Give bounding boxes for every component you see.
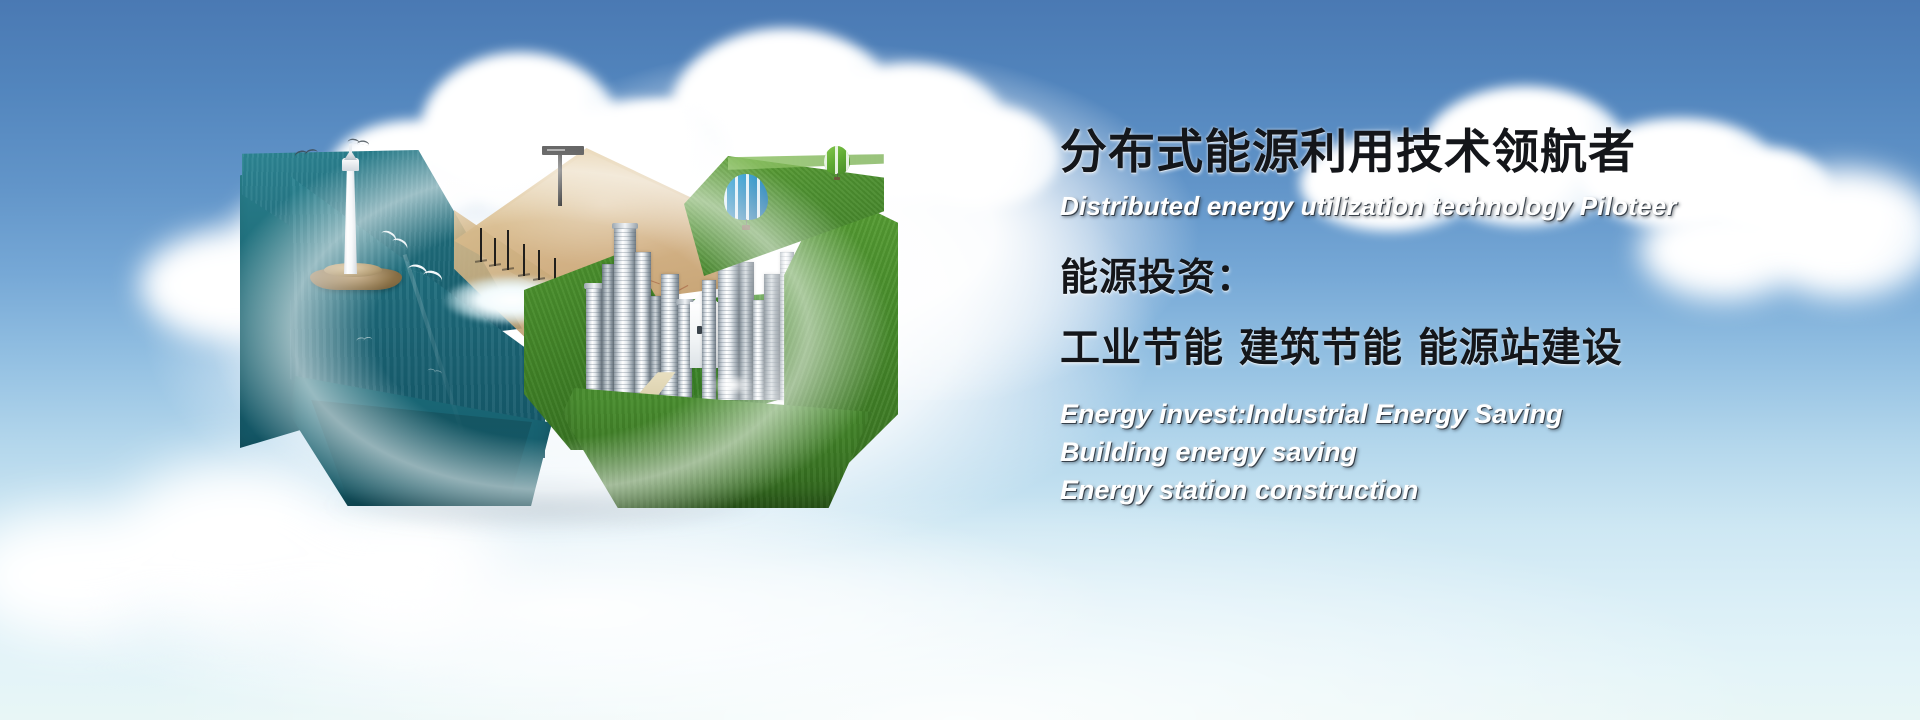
- services-list-english: Energy invest:Industrial Energy Saving B…: [1060, 395, 1820, 510]
- skyscraper: [586, 288, 602, 400]
- services-list-chinese: 工业节能 建筑节能 能源站建设: [1060, 315, 1820, 373]
- energy-invest-label: 能源投资：: [1060, 246, 1820, 301]
- balloon-basket: [834, 177, 839, 180]
- signpost-pole: [558, 150, 562, 206]
- dead-tree-icon: [538, 250, 540, 280]
- city-light-glow: [702, 370, 762, 400]
- dead-tree-icon: [494, 238, 496, 266]
- balloon-basket: [742, 225, 751, 230]
- hero-banner: 分布式能源利用技术领航者 Distributed energy utilizat…: [0, 0, 1920, 720]
- balloon-envelope: [824, 146, 850, 174]
- hot-air-balloon-icon: [824, 146, 850, 180]
- banner-subtitle-english: Distributed energy utilization technolog…: [1060, 191, 1820, 222]
- dead-tree-icon: [523, 244, 525, 276]
- skyscraper: [614, 228, 636, 400]
- service-line-3: Energy station construction: [1060, 471, 1820, 509]
- skyscraper: [764, 274, 781, 400]
- balloon-envelope: [724, 174, 768, 220]
- banner-copy: 分布式能源利用技术领航者 Distributed energy utilizat…: [1060, 128, 1820, 510]
- banner-headline: 分布式能源利用技术领航者: [1060, 128, 1820, 178]
- dead-tree-icon: [480, 228, 482, 262]
- service-line-1: Energy invest:Industrial Energy Saving: [1060, 395, 1820, 433]
- service-line-2: Building energy saving: [1060, 433, 1820, 471]
- dead-tree-icon: [507, 230, 509, 270]
- w-landscape-sculpture: [232, 130, 852, 490]
- signpost-icon: [542, 146, 584, 155]
- skyscraper: [635, 252, 651, 400]
- hot-air-balloon-icon: [724, 174, 768, 230]
- lighthouse-spire: [349, 144, 352, 152]
